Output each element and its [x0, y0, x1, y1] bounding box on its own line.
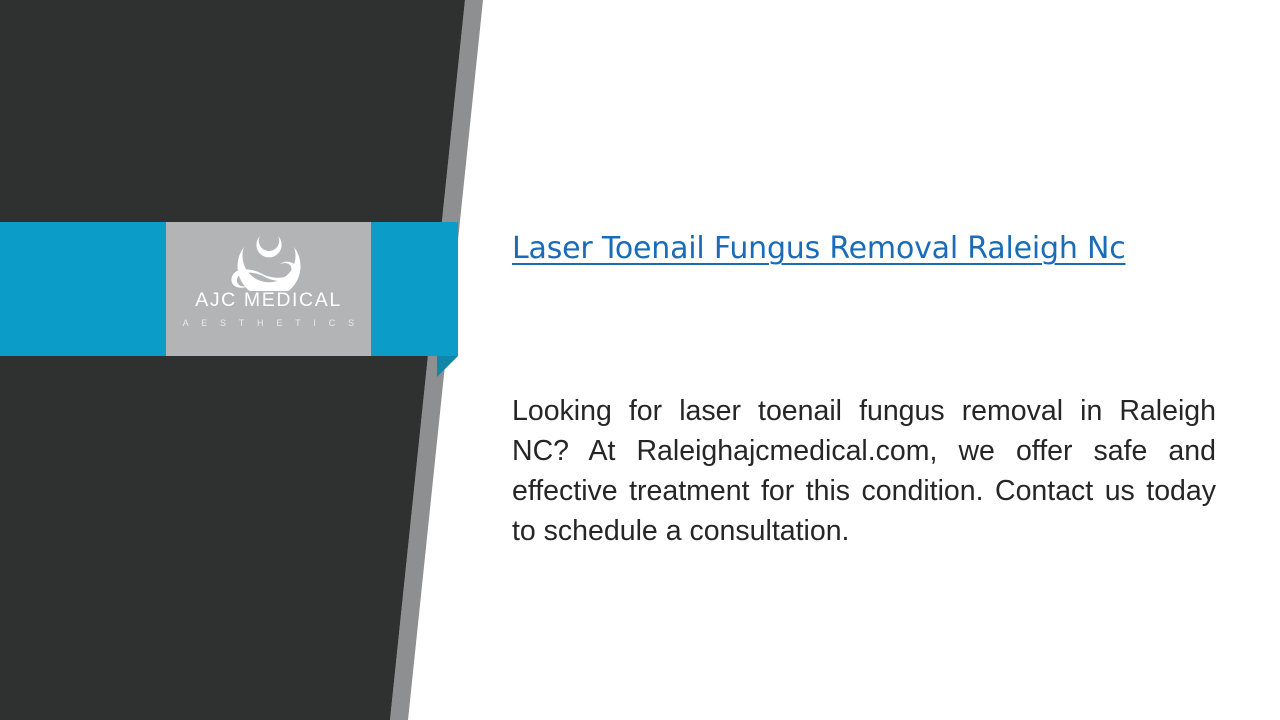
teal-band-fold-shadow [437, 356, 458, 377]
logo-plate: AJC MEDICAL A E S T H E T I C S [166, 222, 371, 356]
logo-subwordmark: A E S T H E T I C S [178, 319, 360, 328]
presentation-slide: AJC MEDICAL A E S T H E T I C S Laser To… [0, 0, 1280, 720]
dark-angled-panel [0, 0, 465, 720]
slide-content-column: Laser Toenail Fungus Removal Raleigh Nc … [512, 0, 1216, 720]
slide-body-text: Looking for laser toenail fungus removal… [512, 391, 1216, 551]
meditating-figure-logo-mark [221, 229, 317, 291]
slide-title-link[interactable]: Laser Toenail Fungus Removal Raleigh Nc [512, 232, 1126, 267]
logo-wordmark: AJC MEDICAL [195, 291, 342, 311]
